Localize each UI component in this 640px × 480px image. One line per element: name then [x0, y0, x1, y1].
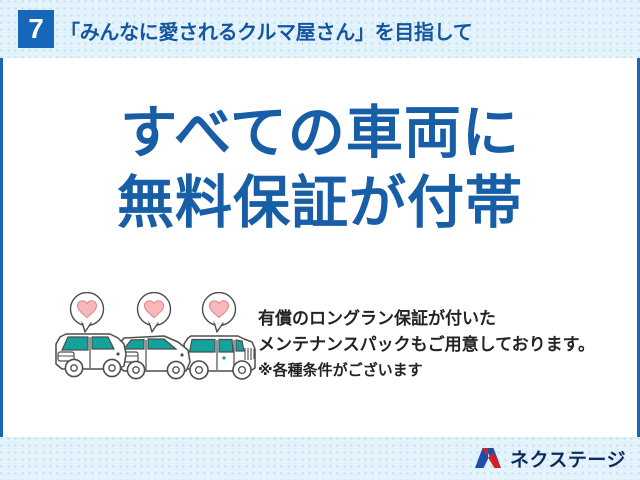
- car-kei-wagon-icon: [56, 334, 126, 377]
- car-suv-icon: [184, 336, 255, 379]
- nexstage-n-mark-icon: [474, 447, 504, 474]
- body-copy-note: ※各種条件がございます: [258, 358, 595, 384]
- body-copy: 有償のロングラン保証が付いた メンテナンスパックもご用意しております。 ※各種条…: [258, 306, 595, 384]
- heart-bubble-1-icon: [71, 293, 104, 333]
- car-minivan-icon: [118, 336, 190, 379]
- brand-logo: ネクステージ: [474, 447, 626, 474]
- left-edge-rail: [0, 0, 3, 480]
- step-number-badge: 7: [18, 10, 54, 48]
- header-title: 「みんなに愛されるクルマ屋さん」を目指して: [60, 16, 473, 45]
- heart-bubble-2-icon: [138, 293, 171, 333]
- headline-line-1: すべての車両に: [0, 98, 640, 168]
- brand-wordmark: ネクステージ: [510, 451, 626, 470]
- headline: すべての車両に 無料保証が付帯: [0, 98, 640, 238]
- headline-line-2: 無料保証が付帯: [0, 168, 640, 238]
- promo-banner: 7 「みんなに愛されるクルマ屋さん」を目指して すべての車両に 無料保証が付帯: [0, 0, 640, 480]
- heart-bubble-3-icon: [203, 293, 236, 333]
- cars-illustration: [52, 292, 262, 392]
- body-copy-line-1: 有償のロングラン保証が付いた: [258, 306, 595, 332]
- body-copy-line-2: メンテナンスパックもご用意しております。: [258, 332, 595, 358]
